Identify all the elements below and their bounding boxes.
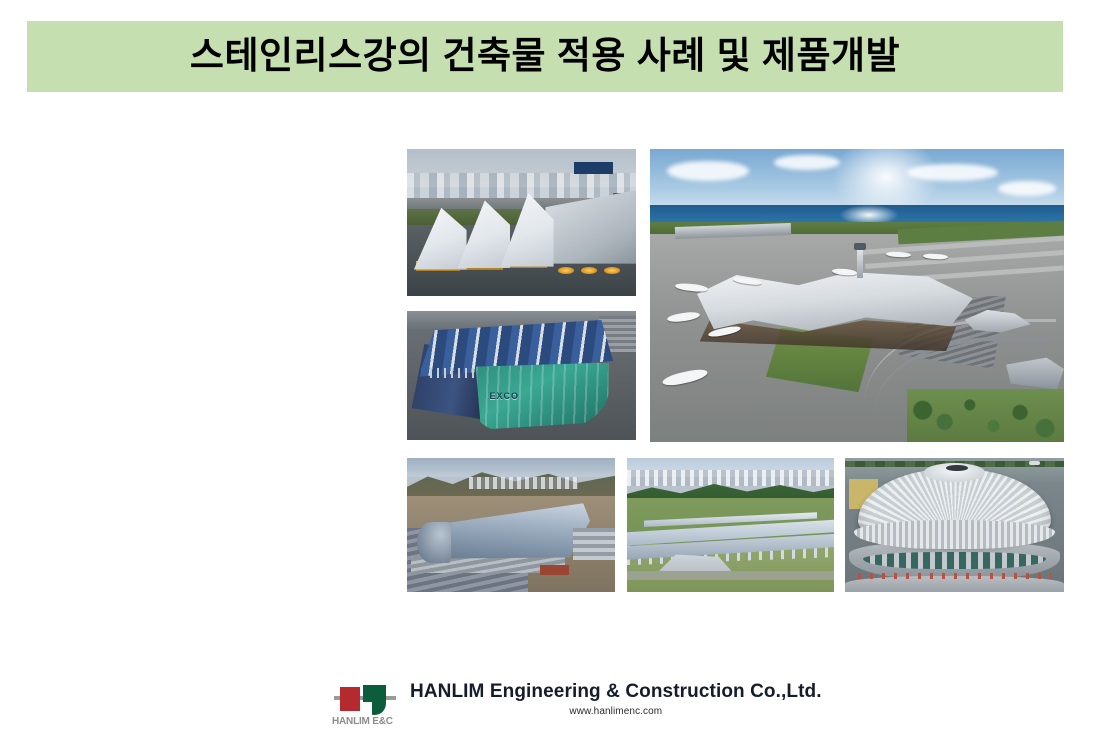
arena-window-band [863,552,1047,569]
bollard-row [858,573,1051,578]
dome-eaves-ring [854,520,1055,549]
logo-wordmark: HANLIM E&C [332,716,404,727]
company-website[interactable]: www.hanlimenc.com [569,706,662,717]
photo-elevated-railway-station[interactable] [627,458,834,592]
cloud-4 [998,181,1056,196]
slide-footer: HANLIM E&C HANLIM Engineering & Construc… [0,680,1104,740]
background-town-layer [469,477,577,489]
billboard-layer [574,162,613,174]
control-tower-shaft [857,246,863,278]
vault-end-glazing [417,522,450,562]
slide-title-banner: 스테인리스강의 건축물 적용 사례 및 제품개발 [27,21,1063,92]
sky-layer [407,458,615,477]
logo-green-hook [363,685,386,715]
photo-vaulted-railway-station[interactable] [407,458,615,592]
flood-lamp-1 [558,267,574,274]
hanlim-logo-icon: HANLIM E&C [332,680,404,734]
photo-exco-convention-center[interactable]: EXCO [407,311,636,440]
parked-car [1029,461,1040,465]
background-city-layer [627,470,834,486]
company-name: HANLIM Engineering & Construction Co.,Lt… [410,680,822,704]
photo-dome-arena-scene [845,458,1064,592]
page-title: 스테인리스강의 건축물 적용 사례 및 제품개발 [190,37,900,77]
logo-red-block [340,687,360,711]
footer-text-block: HANLIM Engineering & Construction Co.,Lt… [410,680,822,717]
cloud-2 [774,155,840,170]
exco-sign-text: EXCO [489,391,519,401]
tree-belt-layer [907,389,1064,442]
flood-lamp-2 [581,267,597,274]
photo-convention-center-dusk[interactable] [407,149,636,296]
footer-content: HANLIM E&C HANLIM Engineering & Construc… [332,680,822,734]
red-roof-building [540,565,569,574]
photo-convention-center-scene [407,149,636,296]
photo-airport-scene [650,149,1064,442]
photo-domed-arena[interactable] [845,458,1064,592]
photo-exco-scene: EXCO [407,311,636,440]
side-buildings-layer [573,528,615,560]
flood-lamp-3 [604,267,620,274]
photo-airport-terminal[interactable] [650,149,1064,442]
photo-elevated-station-scene [627,458,834,592]
road-layer [627,571,834,580]
photo-vaulted-station-scene [407,458,615,592]
control-tower-cab [854,243,866,251]
